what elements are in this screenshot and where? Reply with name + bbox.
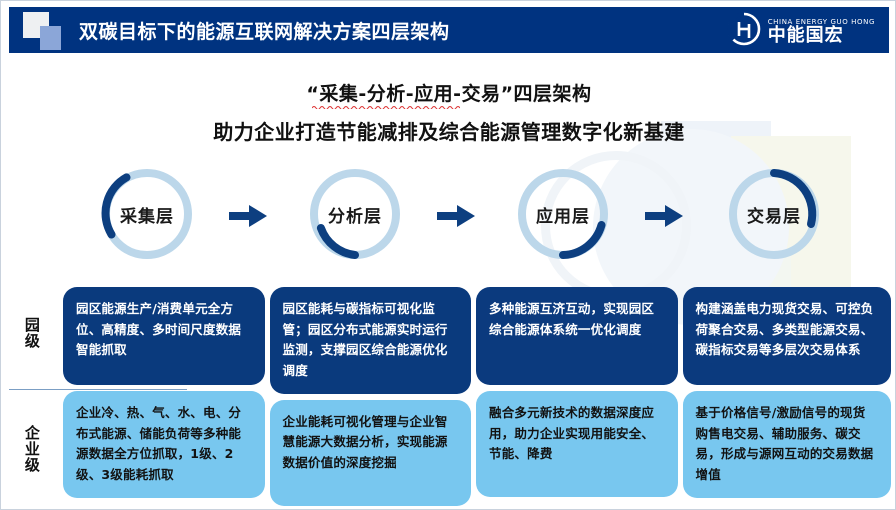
card-park-trading[interactable]: 构建涵盖电力现货交易、可控负荷聚合交易、多类型能源交易、碳指标交易等多层次交易体… [683,287,891,385]
spellcheck-squiggle-icon [312,105,460,109]
column-trading: 构建涵盖电力现货交易、可控负荷聚合交易、多类型能源交易、碳指标交易等多层次交易体… [683,287,891,506]
row-label-park: 园级 [1,283,61,383]
flow-node-analysis[interactable]: 分析层 [304,163,406,265]
subtitle-line-2: 助力企业打造节能减排及综合能源管理数字化新基建 [1,116,896,145]
column-collection: 园区能源生产/消费单元全方位、高精度、多时间尺度数据智能抓取 企业冷、热、气、水… [63,287,265,506]
logo-chinese-text: 中能国宏 [768,27,875,45]
flow-node-label: 应用层 [512,163,614,265]
column-application: 多种能源互济互动，实现园区综合能源体系统一优化调度 融合多元新技术的数据深度应用… [476,287,678,506]
card-enterprise-application[interactable]: 融合多元新技术的数据深度应用，助力企业实现用能安全、节能、降费 [476,391,678,497]
page-title: 双碳目标下的能源互联网解决方案四层架构 [79,17,450,44]
row-label-column: 园级 企业级 [1,283,61,503]
header-bar: 双碳目标下的能源互联网解决方案四层架构 CHINA ENERGY GUO HON… [9,7,889,53]
flow-node-label: 交易层 [723,163,825,265]
flow-diagram: 采集层 分析层 应用层 [61,161,881,271]
squares-mark-icon [23,10,71,50]
flow-node-trading[interactable]: 交易层 [723,163,825,265]
right-arrow-icon [229,205,267,227]
subtitle-line-1: “采集-分析-应用-交易”四层架构 [306,79,591,106]
title-block: “采集-分析-应用-交易”四层架构 助力企业打造节能减排及综合能源管理数字化新基… [1,79,896,145]
flow-node-collection[interactable]: 采集层 [96,163,198,265]
row-label-enterprise: 企业级 [1,395,61,503]
slide-canvas: 双碳目标下的能源互联网解决方案四层架构 CHINA ENERGY GUO HON… [0,0,896,510]
card-enterprise-collection[interactable]: 企业冷、热、气、水、电、分布式能源、储能负荷等多种能源数据全方位抓取，1级、2级… [63,391,265,498]
card-grid: 园区能源生产/消费单元全方位、高精度、多时间尺度数据智能抓取 企业冷、热、气、水… [63,287,891,506]
flow-node-application[interactable]: 应用层 [512,163,614,265]
card-park-collection[interactable]: 园区能源生产/消费单元全方位、高精度、多时间尺度数据智能抓取 [63,287,265,385]
right-arrow-icon [437,205,475,227]
card-park-application[interactable]: 多种能源互济互动，实现园区综合能源体系统一优化调度 [476,287,678,385]
flow-node-label: 采集层 [96,163,198,265]
right-arrow-icon [645,205,683,227]
card-park-analysis[interactable]: 园区能耗与碳指标可视化监管；园区分布式能源实时运行监测，支撑园区综合能源优化调度 [270,287,472,394]
flow-node-label: 分析层 [304,163,406,265]
company-logo: CHINA ENERGY GUO HONG 中能国宏 [727,12,875,50]
china-energy-guohong-logo-icon [727,12,761,50]
column-analysis: 园区能耗与碳指标可视化监管；园区分布式能源实时运行监测，支撑园区综合能源优化调度… [270,287,472,506]
card-enterprise-trading[interactable]: 基于价格信号/激励信号的现货购售电交易、辅助服务、碳交易，形成与源网互动的交易数… [683,391,891,498]
card-enterprise-analysis[interactable]: 企业能耗可视化管理与企业智慧能源大数据分析，实现能源数据价值的深度挖掘 [270,400,472,506]
